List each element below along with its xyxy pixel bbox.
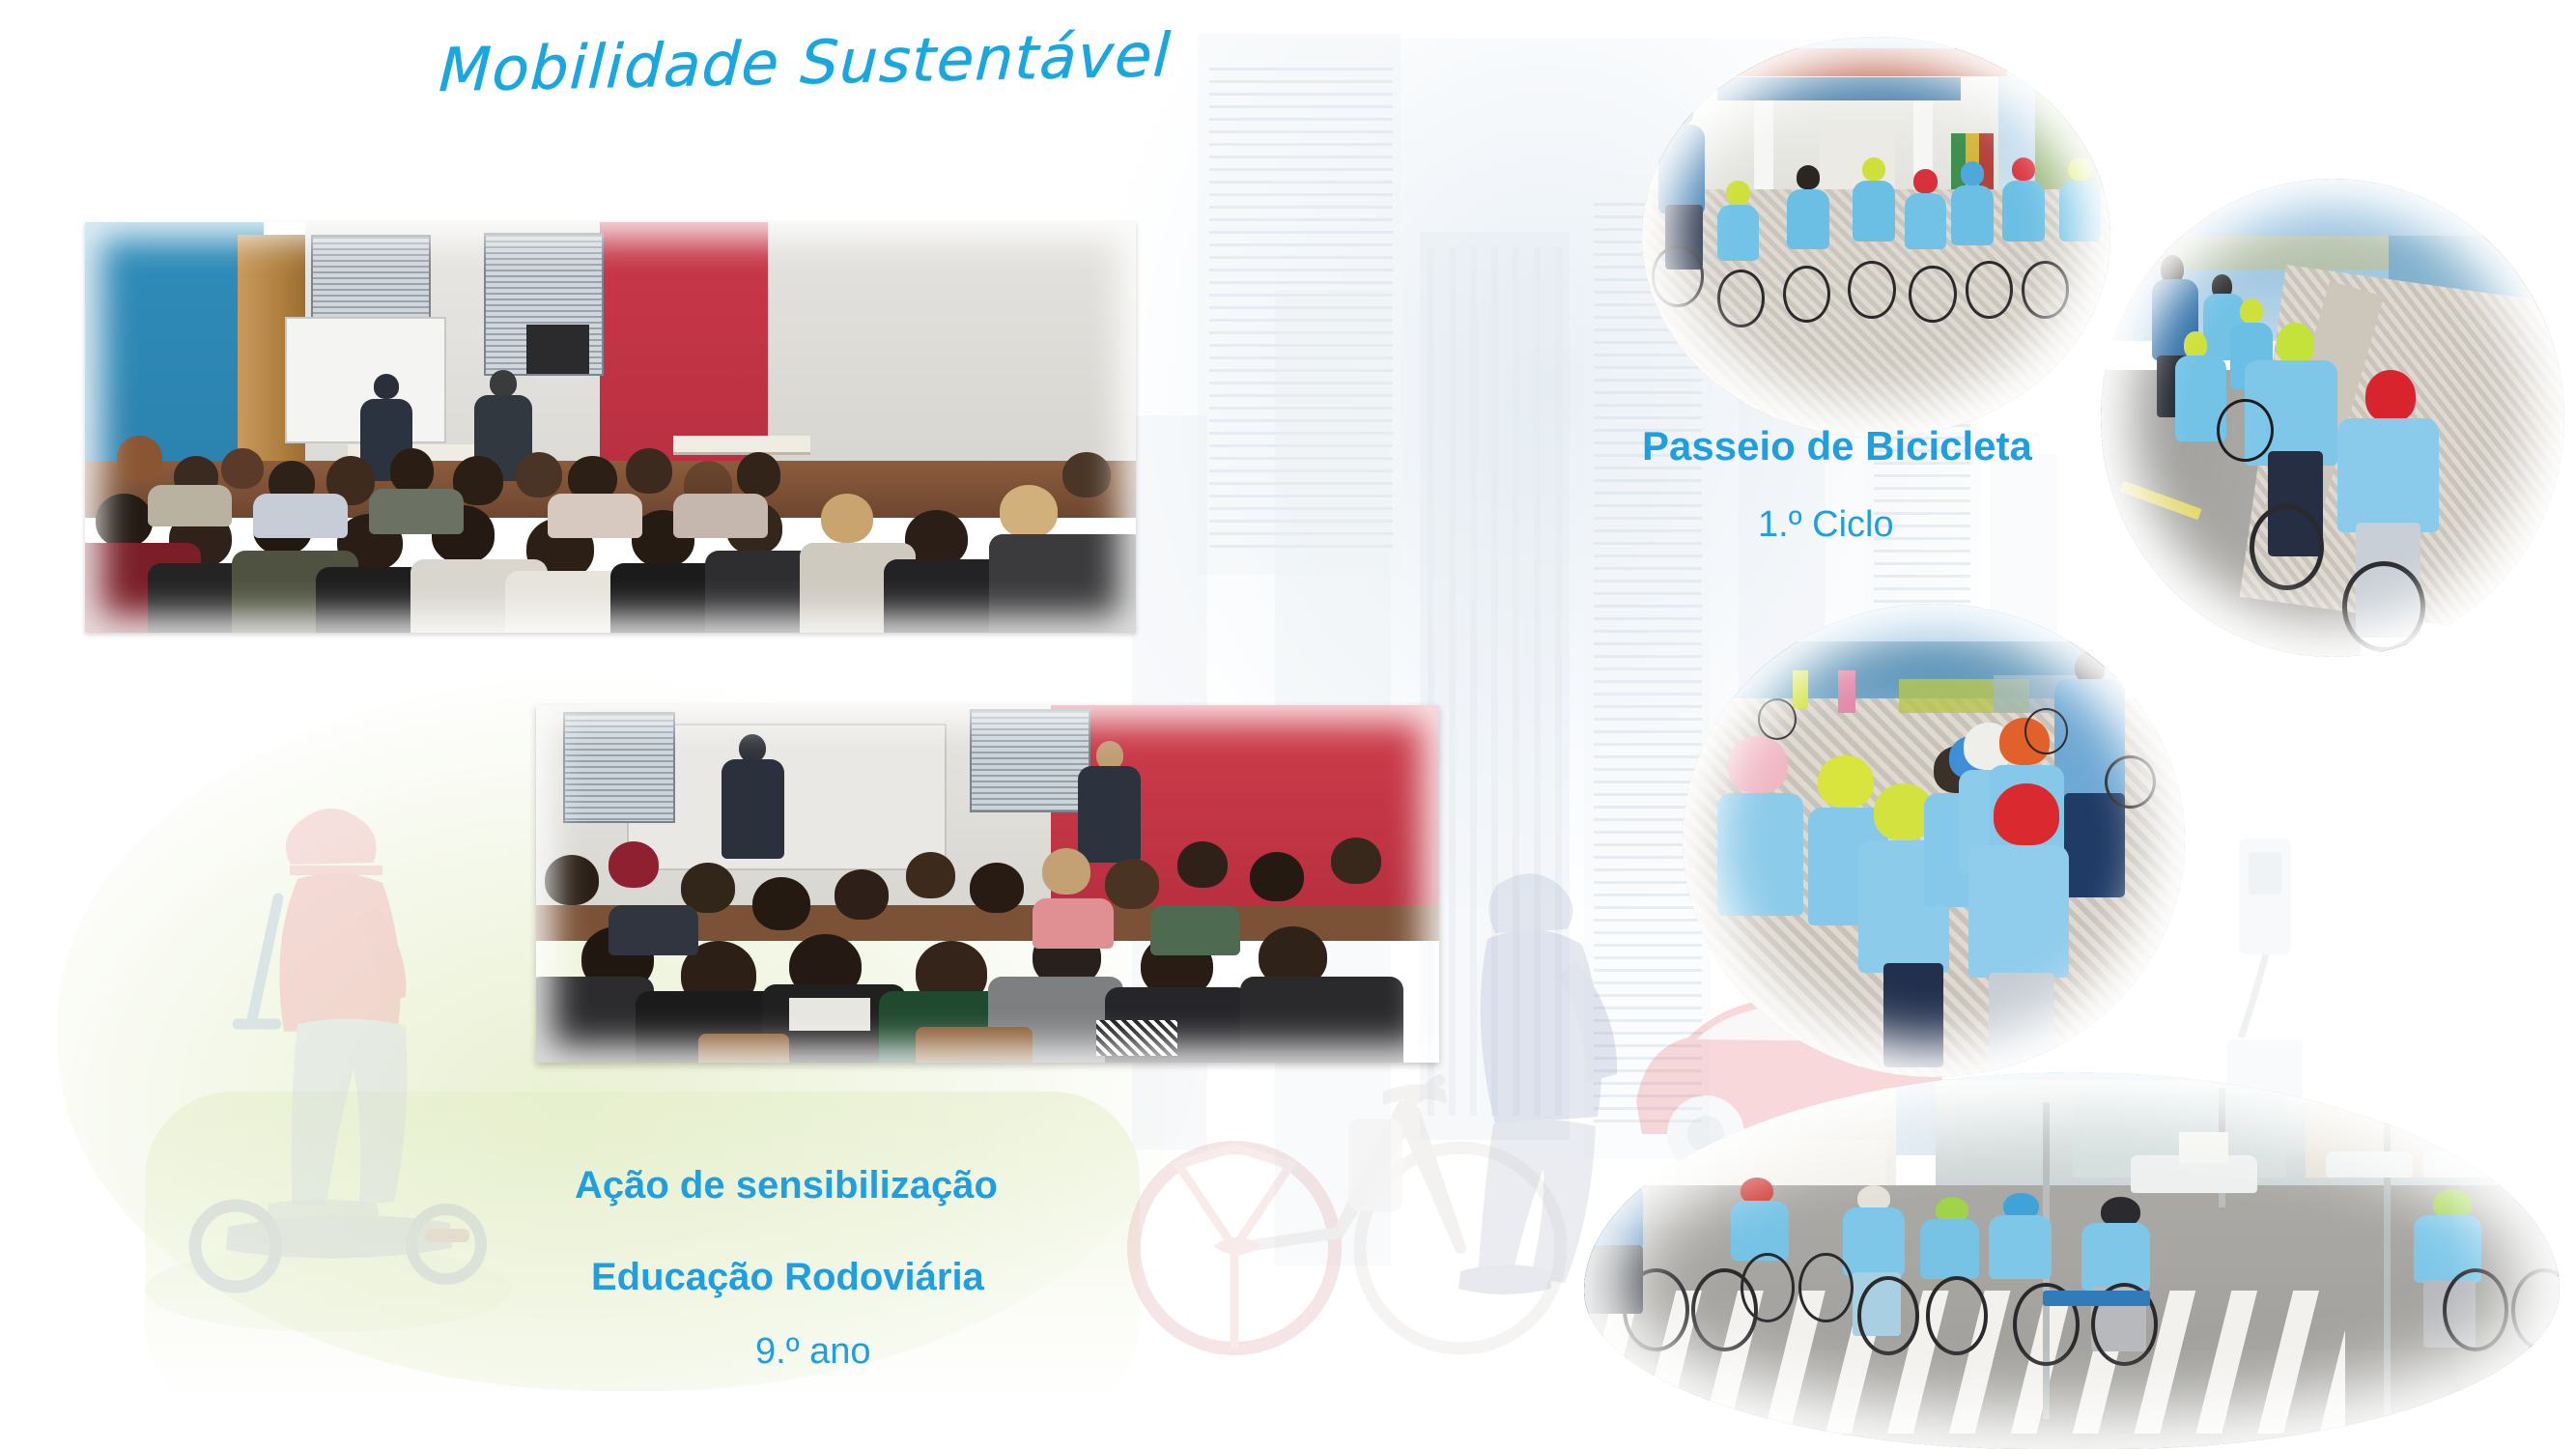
photo-helmets-briefing xyxy=(1683,604,2185,1077)
photo-coastal-bike-ride xyxy=(2101,179,2564,657)
caption-passeio-subtitle: 1.º Ciclo xyxy=(1758,504,1894,546)
poster-canvas: Mobilidade Sustentável xyxy=(0,0,2576,1449)
caption-passeio-title: Passeio de Bicicleta xyxy=(1642,423,2032,469)
caption-acao-subtitle: 9.º ano xyxy=(755,1331,871,1373)
scooter-rider-graphic xyxy=(135,734,541,1333)
page-title: Mobilidade Sustentável xyxy=(438,25,1173,100)
caption-acao-line2: Educação Rodoviária xyxy=(591,1256,984,1299)
photo-bike-group-school xyxy=(1642,37,2110,438)
photo-crosswalk-bikes xyxy=(1584,1072,2560,1449)
caption-acao-line1: Ação de sensibilização xyxy=(575,1164,998,1207)
photo-classroom-lecture-lower xyxy=(536,705,1439,1063)
photo-classroom-lecture-wide xyxy=(85,222,1136,633)
